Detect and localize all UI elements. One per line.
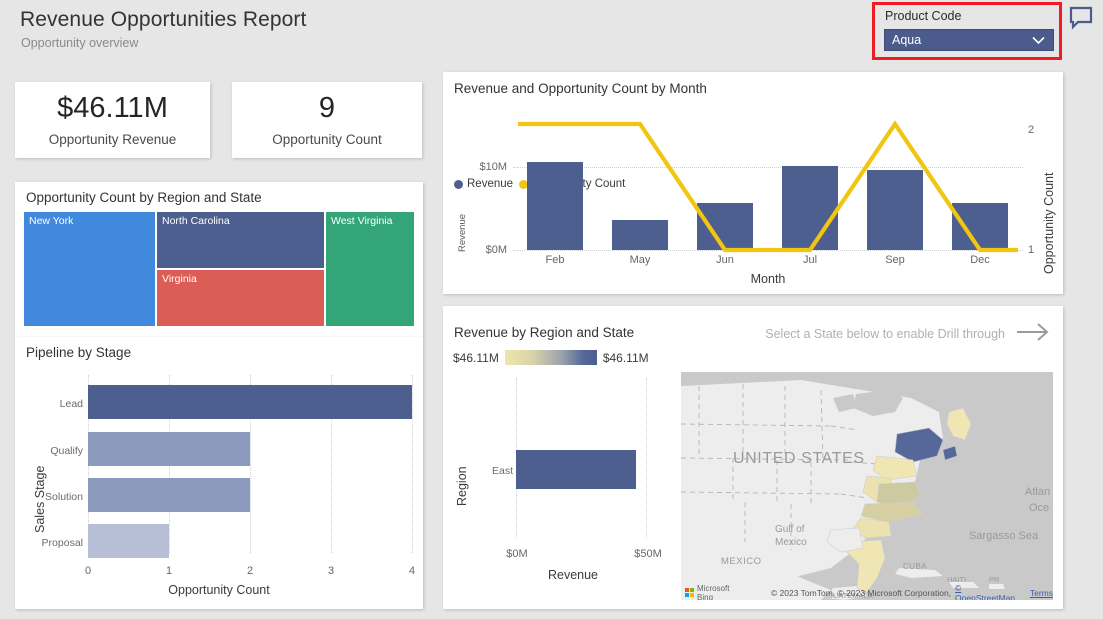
treemap-plot: New York North Carolina Virginia West Vi…	[24, 212, 414, 326]
product-code-slicer[interactable]: Product Code Aqua	[872, 2, 1062, 60]
pipeline-plot-area	[88, 375, 412, 553]
page-subtitle: Opportunity overview	[21, 36, 138, 50]
map-label-sargasso-sea: Sargasso Sea	[969, 530, 1038, 542]
x-tick-jun: Jun	[697, 254, 753, 266]
attribution-text: © 2023 TomTom, © 2023 Microsoft Corporat…	[771, 588, 951, 598]
y2-tick-1: 1	[1028, 244, 1048, 256]
chart-title: Pipeline by Stage	[26, 345, 131, 360]
kpi-value: $46.11M	[57, 93, 168, 123]
bar-solution[interactable]	[88, 478, 250, 512]
x-tick-sep: Sep	[867, 254, 923, 266]
map-label-ocean: Oce	[1029, 502, 1049, 514]
map-attribution: Microsoft Bing © 2023 TomTom, © 2023 Mic…	[681, 585, 1053, 600]
bing-map[interactable]: UNITED STATES Gulf of Mexico MEXICO CUBA…	[681, 372, 1053, 600]
x-axis-title: Opportunity Count	[15, 583, 423, 597]
x-tick-50m: $50M	[627, 548, 669, 560]
x-tick-0: 0	[74, 565, 102, 577]
bar-east[interactable]	[516, 450, 636, 489]
legend-max-value: $46.11M	[603, 351, 649, 365]
treemap-tile-label: West Virginia	[331, 215, 392, 227]
y-tick-10m: $10M	[465, 161, 507, 173]
y-axis-title: Region	[455, 436, 469, 506]
bar-proposal[interactable]	[88, 524, 169, 558]
report-page: Revenue Opportunities Report Opportunity…	[0, 0, 1103, 619]
category-label-east: East	[475, 465, 513, 477]
bing-logo-icon: Microsoft Bing	[685, 584, 747, 601]
map-label-united-states: UNITED STATES	[733, 450, 865, 468]
map-card-revenue-by-region-and-state: Revenue by Region and State Select a Sta…	[443, 306, 1063, 609]
x-tick-2: 2	[236, 565, 264, 577]
x-tick-dec: Dec	[952, 254, 1008, 266]
y-tick-0m: $0M	[465, 244, 507, 256]
map-label-atlantic: Atlan	[1025, 486, 1050, 498]
treemap-tile-west-virginia[interactable]: West Virginia	[326, 212, 414, 326]
category-label-proposal: Proposal	[33, 537, 83, 549]
category-label-lead: Lead	[33, 398, 83, 410]
combo-chart-revenue-and-opportunity-count-by-month: Revenue and Opportunity Count by Month R…	[443, 72, 1063, 294]
x-tick-0m: $0M	[498, 548, 536, 560]
slicer-label: Product Code	[885, 9, 961, 23]
kpi-card-opportunity-revenue[interactable]: $46.11M Opportunity Revenue	[15, 82, 210, 158]
treemap-opportunity-count-by-region-state: Opportunity Count by Region and State Ne…	[15, 182, 423, 337]
kpi-label: Opportunity Count	[272, 132, 382, 147]
legend-item-revenue[interactable]: Revenue	[454, 178, 513, 190]
category-label-solution: Solution	[33, 491, 83, 503]
treemap-tile-north-carolina[interactable]: North Carolina	[157, 212, 324, 268]
x-tick-1: 1	[155, 565, 183, 577]
color-legend: $46.11M $46.11M	[453, 350, 649, 365]
comment-icon[interactable]	[1068, 5, 1094, 31]
chevron-down-icon	[1032, 36, 1053, 45]
category-label-qualify: Qualify	[33, 445, 83, 457]
legend-label: Revenue	[467, 178, 513, 190]
treemap-tile-label: North Carolina	[162, 215, 230, 227]
treemap-tile-label: New York	[29, 215, 73, 227]
legend-min-value: $46.11M	[453, 351, 499, 365]
bar-lead[interactable]	[88, 385, 412, 419]
openstreetmap-link[interactable]: © OpenStreetMap	[955, 583, 1023, 601]
bar-chart-revenue-by-region: Region East $0M $50M Revenue	[453, 372, 675, 600]
bar-qualify[interactable]	[88, 432, 250, 466]
bar-chart-pipeline-by-stage: Pipeline by Stage Sales Stage Lead Quali…	[15, 337, 423, 609]
x-tick-may: May	[612, 254, 668, 266]
drill-through-hint: Select a State below to enable Drill thr…	[765, 327, 1005, 341]
x-tick-feb: Feb	[527, 254, 583, 266]
treemap-tile-virginia[interactable]: Virginia	[157, 270, 324, 326]
x-axis-title: Month	[513, 272, 1023, 286]
legend-marker-icon	[454, 180, 463, 189]
product-code-dropdown[interactable]: Aqua	[884, 29, 1054, 51]
combo-plot-area	[513, 112, 1023, 250]
y-axis-title: Revenue	[457, 192, 468, 252]
chart-title: Revenue and Opportunity Count by Month	[454, 81, 707, 96]
region-plot-area	[516, 378, 646, 538]
page-title: Revenue Opportunities Report	[20, 8, 306, 32]
arrow-right-icon[interactable]	[1015, 320, 1051, 349]
y2-axis-title: Opportunity Count	[1042, 164, 1056, 274]
x-tick-3: 3	[317, 565, 345, 577]
kpi-label: Opportunity Revenue	[49, 132, 177, 147]
x-axis-title: Revenue	[483, 568, 663, 582]
treemap-tile-new-york[interactable]: New York	[24, 212, 155, 326]
kpi-card-opportunity-count[interactable]: 9 Opportunity Count	[232, 82, 422, 158]
color-gradient-bar	[505, 350, 597, 365]
map-label-mexico: MEXICO	[721, 556, 761, 567]
map-label-gulf-of: Gulf of	[775, 524, 804, 535]
slicer-selected-value: Aqua	[885, 33, 1032, 47]
y2-tick-2: 2	[1028, 124, 1048, 136]
kpi-value: 9	[319, 93, 335, 123]
chart-title: Opportunity Count by Region and State	[26, 190, 262, 205]
x-tick-4: 4	[398, 565, 426, 577]
treemap-tile-label: Virginia	[162, 273, 197, 285]
map-label-mexico-gulf: Mexico	[775, 537, 807, 548]
chart-title: Revenue by Region and State	[454, 325, 634, 340]
bing-logo-text: Microsoft Bing	[697, 584, 747, 601]
x-tick-jul: Jul	[782, 254, 838, 266]
line-series-opportunity-count	[513, 112, 1023, 250]
map-label-cuba: CUBA	[903, 562, 927, 571]
terms-link[interactable]: Terms	[1030, 588, 1053, 598]
